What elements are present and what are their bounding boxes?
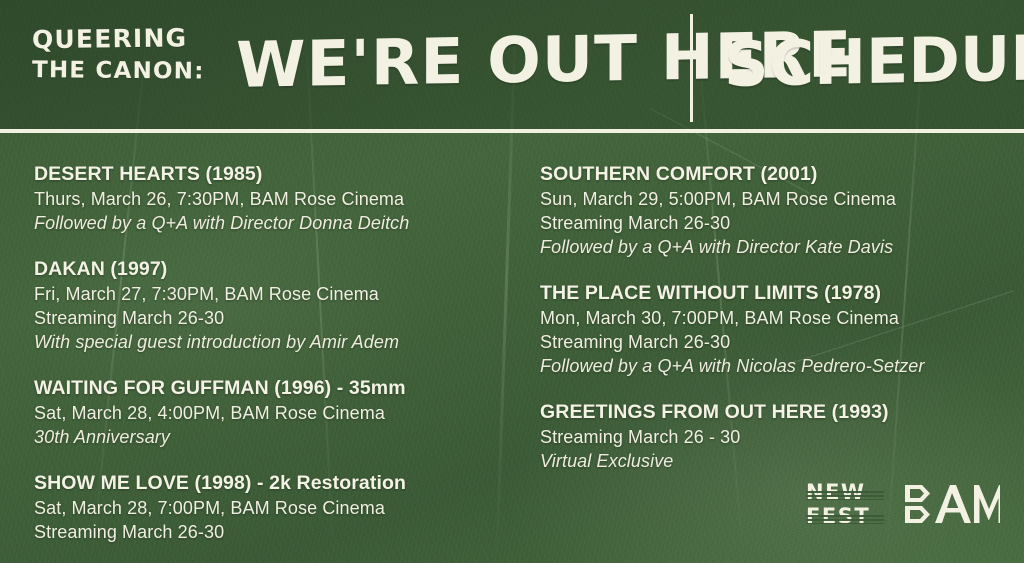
film-entry: SHOW ME LOVE (1998) - 2k RestorationSat,…	[34, 471, 526, 544]
poster-canvas: QUEERING THE CANON: WE'RE OUT HERE SCHED…	[0, 0, 1024, 563]
film-title: WAITING FOR GUFFMAN (1996) - 35mm	[34, 376, 526, 401]
kicker-line-2: THE CANON:	[32, 54, 232, 89]
main-title: WE'RE OUT HERE	[236, 10, 676, 118]
film-note: Followed by a Q+A with Nicolas Pedrero-S…	[540, 354, 1010, 378]
film-screening-line: Streaming March 26-30	[540, 330, 1010, 354]
film-screening-line: Sun, March 29, 5:00PM, BAM Rose Cinema	[540, 187, 1010, 211]
film-title: GREETINGS FROM OUT HERE (1993)	[540, 400, 1010, 425]
film-screening-line: Sat, March 28, 7:00PM, BAM Rose Cinema	[34, 496, 526, 520]
newfest-logo-line-1: NEW	[806, 482, 884, 503]
film-note: With special guest introduction by Amir …	[34, 330, 526, 354]
poster-header: QUEERING THE CANON: WE'RE OUT HERE SCHED…	[0, 0, 1024, 131]
film-title: THE PLACE WITHOUT LIMITS (1978)	[540, 281, 1010, 306]
film-entry: THE PLACE WITHOUT LIMITS (1978)Mon, Marc…	[540, 281, 1010, 378]
film-entry: DESERT HEARTS (1985)Thurs, March 26, 7:3…	[34, 162, 526, 235]
film-note: Followed by a Q+A with Director Kate Dav…	[540, 235, 1010, 259]
newfest-logo[interactable]: NEW FEST	[806, 482, 884, 527]
film-screening-line: Fri, March 27, 7:30PM, BAM Rose Cinema	[34, 282, 526, 306]
schedule-column-right: SOUTHERN COMFORT (2001)Sun, March 29, 5:…	[540, 131, 1010, 473]
film-entry: DAKAN (1997)Fri, March 27, 7:30PM, BAM R…	[34, 257, 526, 354]
film-note: Followed by a Q+A with Director Donna De…	[34, 211, 526, 235]
film-screening-line: Streaming March 26-30	[540, 211, 1010, 235]
film-entry: WAITING FOR GUFFMAN (1996) - 35mmSat, Ma…	[34, 376, 526, 449]
film-title: SOUTHERN COMFORT (2001)	[540, 162, 1010, 187]
film-title: DAKAN (1997)	[34, 257, 526, 282]
film-screening-line: Thurs, March 26, 7:30PM, BAM Rose Cinema	[34, 187, 526, 211]
film-entry: GREETINGS FROM OUT HERE (1993)Streaming …	[540, 400, 1010, 473]
header-vertical-divider	[690, 14, 693, 122]
bam-logo[interactable]	[904, 484, 1000, 524]
section-title: SCHEDULE	[724, 11, 1014, 117]
film-title: DESERT HEARTS (1985)	[34, 162, 526, 187]
film-screening-line: Streaming March 26 - 30	[540, 425, 1010, 449]
film-screening-line: Sat, March 28, 4:00PM, BAM Rose Cinema	[34, 401, 526, 425]
header-kicker: QUEERING THE CANON:	[32, 22, 232, 88]
kicker-line-1: QUEERING	[32, 21, 232, 56]
newfest-logo-line-2: FEST	[806, 506, 884, 527]
film-screening-line: Streaming March 26-30	[34, 520, 526, 544]
film-screening-line: Mon, March 30, 7:00PM, BAM Rose Cinema	[540, 306, 1010, 330]
schedule-column-left: DESERT HEARTS (1985)Thurs, March 26, 7:3…	[34, 131, 526, 544]
film-note: 30th Anniversary	[34, 425, 526, 449]
film-note: Virtual Exclusive	[540, 449, 1010, 473]
logo-row: NEW FEST	[806, 478, 1006, 530]
film-entry: SOUTHERN COMFORT (2001)Sun, March 29, 5:…	[540, 162, 1010, 259]
film-title: SHOW ME LOVE (1998) - 2k Restoration	[34, 471, 526, 496]
film-screening-line: Streaming March 26-30	[34, 306, 526, 330]
